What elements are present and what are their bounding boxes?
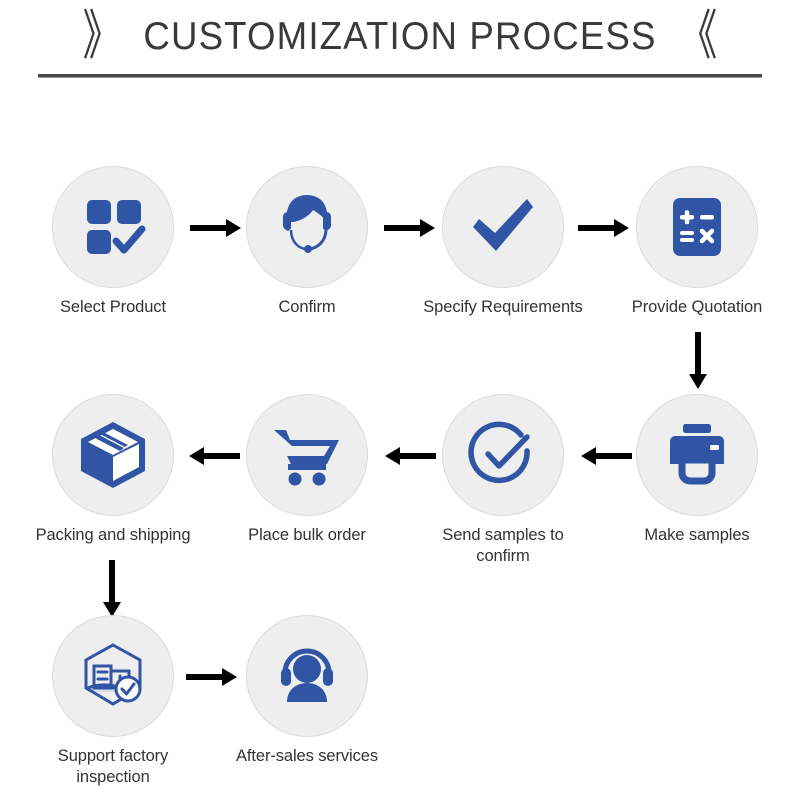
process-step-packing-and-shipping[interactable]: Packing and shipping (28, 394, 198, 546)
step-label: Place bulk order (222, 525, 392, 546)
step-label: Provide Quotation (612, 297, 782, 318)
connector-arrow-down (686, 332, 710, 390)
four-squares-check-icon (77, 191, 149, 263)
page-header: 》 CUSTOMIZATION PROCESS 《 (0, 0, 800, 95)
package-box-icon (75, 417, 151, 493)
factory-inspection-shield-icon (75, 638, 151, 714)
process-step-after-sales-services[interactable]: After-sales services (222, 615, 392, 767)
step-icon-circle (246, 166, 368, 288)
process-step-place-bulk-order[interactable]: Place bulk order (222, 394, 392, 546)
connector-arrow-down (100, 560, 124, 618)
process-step-make-samples[interactable]: Make samples (612, 394, 782, 546)
left-chevron-icon: 》 (83, 9, 122, 63)
process-step-send-samples-to-confirm[interactable]: Send samples to confirm (418, 394, 588, 567)
step-label: Packing and shipping (28, 525, 198, 546)
step-label: Confirm (222, 297, 392, 318)
step-icon-circle (246, 615, 368, 737)
checkmark-icon (465, 189, 541, 265)
step-icon-circle (52, 615, 174, 737)
step-label: After-sales services (222, 746, 392, 767)
process-step-confirm[interactable]: Confirm (222, 166, 392, 318)
shopping-cart-icon (269, 417, 345, 493)
step-icon-circle (442, 166, 564, 288)
printer-icon (662, 420, 732, 490)
step-label: Specify Requirements (418, 297, 588, 318)
step-icon-circle (52, 166, 174, 288)
right-chevron-icon: 《 (679, 9, 718, 63)
process-step-provide-quotation[interactable]: Provide Quotation (612, 166, 782, 318)
process-step-specify-requirements[interactable]: Specify Requirements (418, 166, 588, 318)
step-icon-circle (442, 394, 564, 516)
step-icon-circle (246, 394, 368, 516)
process-step-support-factory-inspection[interactable]: Support factory inspection (28, 615, 198, 788)
step-label: Send samples to confirm (418, 525, 588, 567)
support-agent-headset-icon (269, 189, 345, 265)
step-label: Select Product (28, 297, 198, 318)
title-row: 》 CUSTOMIZATION PROCESS 《 (0, 8, 800, 66)
step-icon-circle (52, 394, 174, 516)
step-label: Support factory inspection (28, 746, 198, 788)
title-divider (38, 74, 762, 78)
circle-check-icon (465, 417, 541, 493)
calculator-icon (664, 194, 730, 260)
page-title: CUSTOMIZATION PROCESS (143, 15, 656, 59)
step-label: Make samples (612, 525, 782, 546)
step-icon-circle (636, 394, 758, 516)
step-icon-circle (636, 166, 758, 288)
process-step-select-product[interactable]: Select Product (28, 166, 198, 318)
headphones-person-icon (269, 638, 345, 714)
